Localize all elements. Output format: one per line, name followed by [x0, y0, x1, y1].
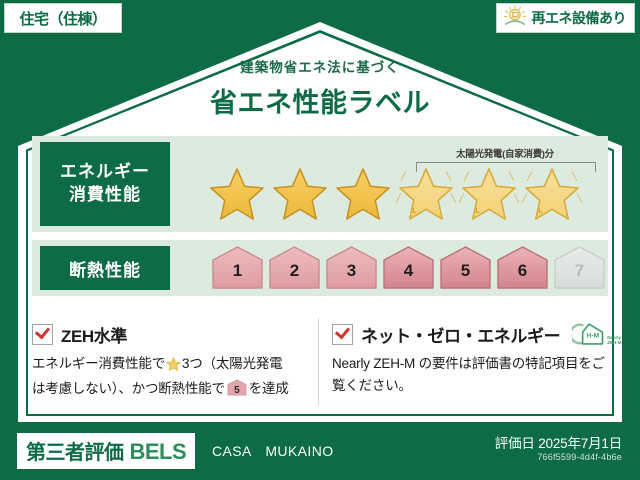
- net-zero-energy-section: ネット・ゼロ・エネルギー H-M Nearly ZEH-M Nearly ZEH…: [332, 322, 614, 397]
- zeh-body-part2: は考慮しない）、かつ断熱性能で: [32, 381, 225, 396]
- zeh-standard-header: ZEH水準: [32, 322, 314, 346]
- project-name: CASA MUKAINO: [212, 441, 334, 461]
- zeh-standard-title: ZEH水準: [61, 322, 127, 347]
- star-sparkle-icon: ╱: [396, 194, 401, 203]
- footer: 第三者評価 BELS CASA MUKAINO 評価日 2025年7月1日 76…: [0, 422, 640, 480]
- star-sparkle-icon: ╱: [522, 194, 527, 203]
- energy-stars-area: 太陽光発電(自家消費)分 ╱╲┗╱╲╱╲┗╱╲╱╲┗╱╲: [182, 136, 602, 232]
- star-filled: [208, 166, 266, 222]
- energy-performance-label-block: エネルギー 消費性能: [40, 142, 170, 226]
- insulation-step-filled: 6: [495, 244, 550, 292]
- title-subtitle: 建築物省エネ法に基づく: [0, 56, 640, 76]
- zeh-standard-section: ZEH水準 エネルギー消費性能で3つ（太陽光発電は考慮しない）、かつ断熱性能で5…: [32, 322, 314, 400]
- zeh-m-logo: H-M Nearly ZEH-M: [572, 321, 621, 347]
- building-type-label: 住宅（住棟）: [19, 8, 106, 29]
- insulation-step-number: 7: [552, 261, 607, 281]
- zeh-standard-body: エネルギー消費性能で3つ（太陽光発電は考慮しない）、かつ断熱性能で5を達成: [32, 353, 314, 400]
- star-sparkle-icon: ╲: [572, 172, 577, 181]
- star-filled: [271, 166, 329, 222]
- insulation-step-number: 3: [324, 261, 379, 281]
- column-divider: [318, 318, 319, 406]
- star-sparkle-icon: ┗: [474, 208, 479, 217]
- bels-en-label: BELS: [130, 439, 187, 465]
- zeh-body-part3: を達成: [249, 381, 289, 396]
- star-rating: ╱╲┗╱╲╱╲┗╱╲╱╲┗╱╲: [208, 166, 581, 222]
- zeh-standard-checkbox-checked-icon: [32, 324, 53, 345]
- inline-grade-badge: 5: [227, 379, 247, 396]
- star-solar: ╱╲┗╱╲: [523, 166, 581, 222]
- zeh-body-part1: エネルギー消費性能で: [32, 356, 165, 371]
- insulation-step-filled: 1: [210, 244, 265, 292]
- evaluation-date: 評価日 2025年7月1日: [495, 432, 622, 452]
- net-zero-energy-title: ネット・ゼロ・エネルギー: [361, 322, 560, 347]
- zeh-body-star-grade: 3つ（太陽光発電: [182, 356, 282, 371]
- insulation-performance-label-block: 断熱性能: [40, 246, 170, 290]
- star-sparkle-icon: ╲: [577, 194, 582, 203]
- star-sparkle-icon: ┗: [411, 208, 416, 217]
- net-zero-energy-header: ネット・ゼロ・エネルギー H-M Nearly ZEH-M: [332, 322, 614, 346]
- star-sparkle-icon: ╱: [527, 172, 532, 181]
- renewable-equipment-badge: 再エネ設備あり: [496, 3, 636, 33]
- insulation-performance-row: 断熱性能 1234567: [32, 240, 608, 296]
- svg-text:H-M: H-M: [587, 333, 600, 340]
- insulation-step-empty: 7: [552, 244, 607, 292]
- insulation-step-filled: 5: [438, 244, 493, 292]
- star-sparkle-icon: ╱: [459, 194, 464, 203]
- zeh-logo-caption: Nearly ZEH-M: [607, 335, 621, 345]
- zeh-logo-caption-line2: ZEH-M: [607, 340, 621, 345]
- insulation-step-filled: 4: [381, 244, 436, 292]
- insulation-step-number: 5: [438, 261, 493, 281]
- star-filled: [334, 166, 392, 222]
- star-sparkle-icon: ╲: [514, 194, 519, 203]
- insulation-label: 断熱性能: [69, 256, 141, 281]
- star-sparkle-icon: ╱: [401, 172, 406, 181]
- insulation-step-number: 6: [495, 261, 550, 281]
- net-zero-checkbox-checked-icon: [332, 324, 353, 345]
- evaluation-id: 766f5599-4d4f-4b6e: [537, 452, 622, 462]
- insulation-step-filled: 3: [324, 244, 379, 292]
- star-solar: ╱╲┗╱╲: [397, 166, 455, 222]
- solar-bracket-label: 太陽光発電(自家消費)分: [414, 146, 596, 160]
- net-zero-energy-body: Nearly ZEH-M の要件は評価書の特記項目をご覧ください。: [332, 353, 614, 397]
- energy-label-line2: 消費性能: [69, 184, 141, 207]
- insulation-step-number: 2: [267, 261, 322, 281]
- insulation-step-number: 4: [381, 261, 436, 281]
- energy-performance-label: 住宅（住棟） 再エネ設備あり 建築物省エネ法に基づく: [0, 0, 640, 480]
- zeh-house-logo-icon: H-M: [572, 321, 606, 347]
- star-sparkle-icon: ╱: [464, 172, 469, 181]
- page-title: 建築物省エネ法に基づく 省エネ性能ラベル: [0, 56, 640, 120]
- star-sparkle-icon: ╲: [451, 194, 456, 203]
- star-sparkle-icon: ┗: [537, 208, 542, 217]
- insulation-step-filled: 2: [267, 244, 322, 292]
- inline-grade-number: 5: [227, 383, 247, 399]
- star-sparkle-icon: ╲: [509, 172, 514, 181]
- bels-badge: 第三者評価 BELS: [17, 433, 195, 469]
- bels-jp-label: 第三者評価: [26, 436, 124, 465]
- insulation-grade-scale: 1234567: [210, 244, 607, 292]
- energy-performance-row: エネルギー 消費性能 太陽光発電(自家消費)分 ╱╲┗╱╲╱╲┗╱╲╱╲┗╱╲: [32, 136, 608, 232]
- building-type-badge: 住宅（住棟）: [4, 3, 122, 33]
- sun-icon: [502, 4, 528, 33]
- inline-star-icon: [166, 356, 181, 378]
- title-main: 省エネ性能ラベル: [0, 81, 640, 120]
- insulation-step-number: 1: [210, 261, 265, 281]
- star-solar: ╱╲┗╱╲: [460, 166, 518, 222]
- energy-label-line1: エネルギー: [60, 161, 150, 184]
- star-sparkle-icon: ╲: [446, 172, 451, 181]
- renewable-equipment-label: 再エネ設備あり: [532, 8, 627, 28]
